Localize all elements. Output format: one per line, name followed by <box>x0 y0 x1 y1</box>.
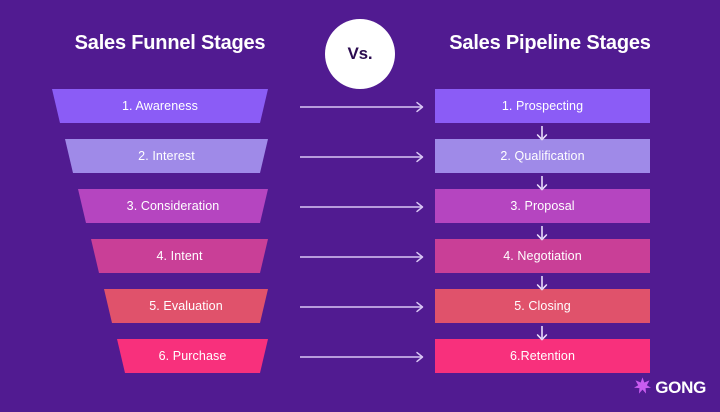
pipeline-stage-label: 4. Negotiation <box>503 249 582 263</box>
pipeline-stage-label: 3. Proposal <box>510 199 574 213</box>
vs-badge-label: Vs. <box>348 44 373 64</box>
funnel-stage: 5. Evaluation <box>104 289 268 323</box>
pipeline-stage-label: 1. Prospecting <box>502 99 583 113</box>
funnel-stage: 6. Purchase <box>117 339 268 373</box>
funnel-stage: 2. Interest <box>65 139 268 173</box>
funnel-stage-label: 2. Interest <box>138 149 195 163</box>
pipeline-down-arrow-icon <box>535 276 549 292</box>
pipeline-stage-label: 2. Qualification <box>500 149 584 163</box>
funnel-stage-label: 3. Consideration <box>127 199 220 213</box>
pipeline-stage: 3. Proposal <box>435 189 650 223</box>
funnel-diagram: 1. Awareness2. Interest3. Consideration4… <box>0 0 340 412</box>
pipeline-stage: 2. Qualification <box>435 139 650 173</box>
funnel-stage: 3. Consideration <box>78 189 268 223</box>
pipeline-stage: 1. Prospecting <box>435 89 650 123</box>
pipeline-stage-label: 5. Closing <box>514 299 571 313</box>
infographic-canvas: Sales Funnel Stages Sales Pipeline Stage… <box>0 0 720 412</box>
funnel-stage-label: 4. Intent <box>156 249 202 263</box>
funnel-stage-label: 5. Evaluation <box>149 299 223 313</box>
gong-logo-text: GONG <box>655 378 706 398</box>
funnel-stage: 4. Intent <box>91 239 268 273</box>
pipeline-stage: 5. Closing <box>435 289 650 323</box>
sparkle-icon <box>634 377 651 399</box>
funnel-stage-label: 1. Awareness <box>122 99 198 113</box>
pipeline-down-arrow-icon <box>535 126 549 142</box>
pipeline-down-arrow-icon <box>535 176 549 192</box>
funnel-stage: 1. Awareness <box>52 89 268 123</box>
pipeline-stage: 4. Negotiation <box>435 239 650 273</box>
pipeline-down-arrow-icon <box>535 326 549 342</box>
pipeline-down-arrow-icon <box>535 226 549 242</box>
funnel-stage-label: 6. Purchase <box>159 349 227 363</box>
pipeline-stage-label: 6.Retention <box>510 349 575 363</box>
pipeline-stage: 6.Retention <box>435 339 650 373</box>
gong-logo: GONG <box>634 377 706 399</box>
pipeline-diagram: 1. Prospecting2. Qualification3. Proposa… <box>380 0 720 412</box>
